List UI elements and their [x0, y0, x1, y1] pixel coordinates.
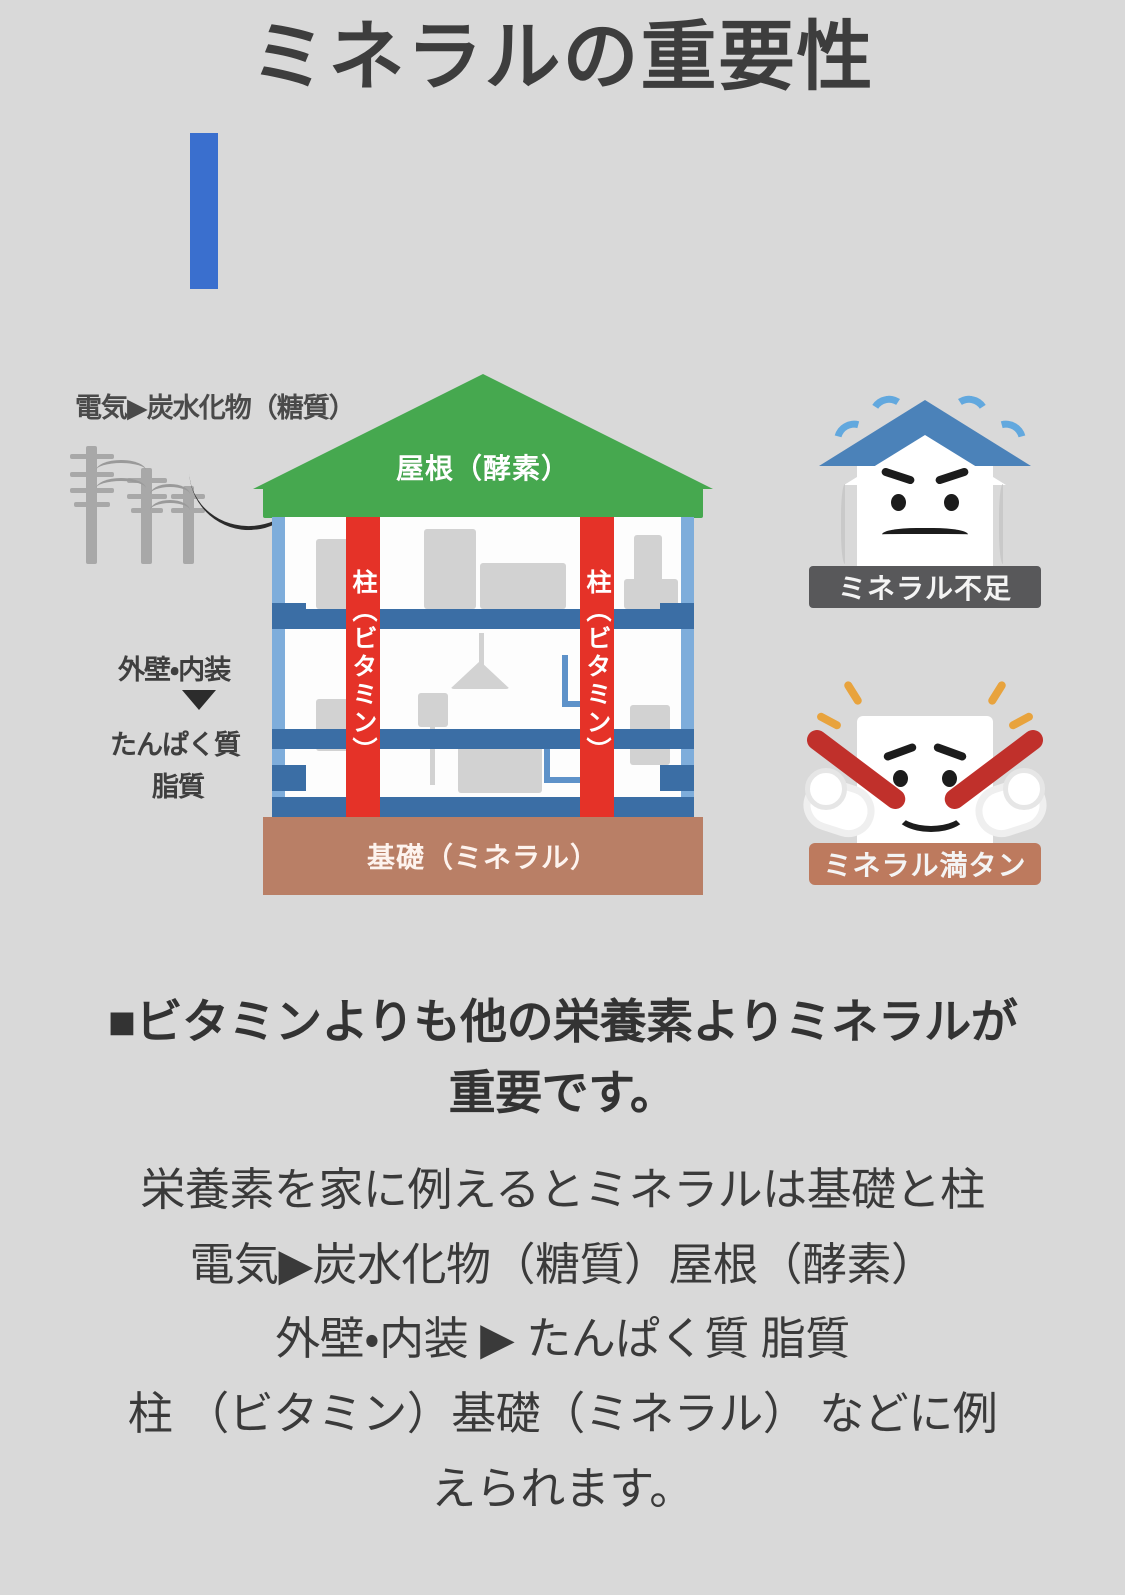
- wall-label-fat: 脂質: [152, 765, 204, 804]
- sparkle-icon: [987, 680, 1008, 706]
- mascot-roof-inner: [844, 435, 1006, 485]
- nutrition-house-illustration: 電気▶炭水化物（糖質） 外壁・内装 たんぱく質 脂質 屋根（酵素）: [0, 368, 1125, 928]
- copy-body-line: えられます。: [0, 1452, 1125, 1527]
- power-wire: [150, 500, 190, 521]
- sill-beam: [272, 797, 694, 817]
- mascot-eye-right: [942, 770, 957, 787]
- house-diagram: 屋根（酵素）: [258, 374, 708, 894]
- copy-body: 栄養素を家に例えるとミネラルは基礎と柱 電気▶炭水化物（糖質）屋根（酵素） 外壁…: [0, 1153, 1125, 1526]
- power-wire: [96, 478, 146, 499]
- mascot-eye-left: [891, 494, 906, 511]
- mascot-fist-left: [805, 768, 847, 810]
- mascot-fist-right: [1003, 768, 1045, 810]
- ceiling-lamp-icon: [450, 661, 510, 689]
- mascot-stage: [795, 658, 1055, 848]
- foundation-block: 基礎（ミネラル）: [263, 817, 703, 895]
- sparkle-icon: [843, 680, 864, 706]
- pillar-left: 柱（ビタミン）: [346, 517, 380, 817]
- beam-stub: [660, 603, 694, 629]
- pole-crossarm: [74, 502, 110, 507]
- floor-beam: [272, 729, 694, 749]
- pillar-label: 柱（ビタミン）: [579, 569, 615, 765]
- mascot-mineral-shortage: ミネラル不足: [795, 388, 1055, 633]
- pillar-right: 柱（ビタミン）: [580, 517, 614, 817]
- mascot-mouth-smile: [894, 792, 968, 832]
- copy-heading: ■ビタミンよりも他の栄養素よりミネラルが 重要です。: [0, 986, 1125, 1129]
- pole-crossarm: [70, 454, 114, 459]
- page-title: ミネラルの重要性: [0, 12, 1125, 103]
- roof-label: 屋根（酵素）: [258, 447, 708, 487]
- furniture-silhouette: [480, 563, 566, 609]
- wall-label-top: 外壁・内装: [118, 648, 230, 687]
- pillar-label: 柱（ビタミン）: [345, 569, 381, 765]
- copy-body-line: 栄養素を家に例えるとミネラルは基礎と柱: [0, 1153, 1125, 1228]
- mascot-mouth-worried: [882, 528, 968, 544]
- furniture-silhouette: [418, 693, 448, 727]
- article-copy: ■ビタミンよりも他の栄養素よりミネラルが 重要です。 栄養素を家に例えるとミネラ…: [0, 986, 1125, 1526]
- copy-heading-line: ■ビタミンよりも他の栄養素よりミネラルが: [58, 986, 1067, 1057]
- beam-stub: [272, 765, 306, 791]
- down-triangle-icon: [182, 690, 216, 710]
- mascot-eye-right: [944, 494, 959, 511]
- mascot-mineral-full: ミネラル満タン: [795, 658, 1055, 908]
- sparkle-icon: [816, 711, 843, 730]
- foundation-label: 基礎（ミネラル）: [367, 836, 599, 876]
- copy-body-line: 柱 （ビタミン）基礎（ミネラル） などに例: [0, 1377, 1125, 1452]
- copy-body-line: 電気▶炭水化物（糖質）屋根（酵素）: [0, 1228, 1125, 1303]
- roof-slab: [263, 486, 703, 518]
- wall-label-protein: たんぱく質: [110, 723, 240, 762]
- beam-stub: [660, 765, 694, 791]
- beam-stub: [272, 603, 306, 629]
- furniture-silhouette: [424, 529, 476, 609]
- badge-mineral-full: ミネラル満タン: [809, 843, 1041, 885]
- shiver-line: [999, 484, 1009, 564]
- title-accent-bar: [190, 133, 218, 289]
- copy-heading-line: 重要です。: [58, 1057, 1067, 1128]
- badge-mineral-shortage: ミネラル不足: [809, 566, 1041, 608]
- floor-beam: [272, 609, 694, 629]
- mascot-stage: [795, 388, 1055, 578]
- sparkle-icon: [1008, 711, 1035, 730]
- mascot-eye-left: [893, 770, 908, 787]
- copy-body-line: 外壁・内装 ▶ たんぱく質 脂質: [0, 1302, 1125, 1377]
- sofa-silhouette: [458, 745, 542, 793]
- shiver-line: [841, 484, 851, 564]
- house-interior: [272, 517, 694, 817]
